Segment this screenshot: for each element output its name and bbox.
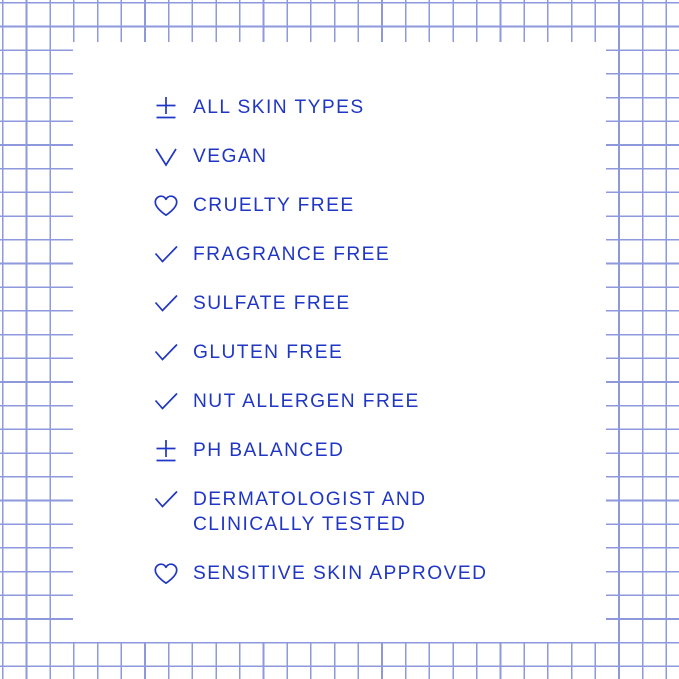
checkmark-icon (152, 287, 186, 321)
white-content-panel: ALL SKIN TYPES VEGAN CRUELTY FREE (73, 42, 606, 642)
list-item-label: NUT ALLERGEN FREE (193, 389, 420, 414)
checkmark-icon (152, 385, 186, 419)
letter-v-icon (152, 140, 186, 174)
checkmark-icon (152, 483, 186, 517)
checkmark-icon (152, 336, 186, 370)
plus-minus-icon (152, 434, 186, 468)
product-claims-card: ALL SKIN TYPES VEGAN CRUELTY FREE (0, 0, 679, 679)
checkmark-icon (152, 238, 186, 272)
list-item-label: SULFATE FREE (193, 291, 351, 316)
list-item-label: CRUELTY FREE (193, 193, 355, 218)
heart-icon (152, 189, 186, 223)
list-item-label: VEGAN (193, 144, 267, 169)
list-item-label: FRAGRANCE FREE (193, 242, 390, 267)
list-item-label: ALL SKIN TYPES (193, 95, 365, 120)
list-item-label: GLUTEN FREE (193, 340, 343, 365)
heart-icon (152, 557, 186, 591)
list-item-label: PH BALANCED (193, 438, 344, 463)
list-item-label: SENSITIVE SKIN APPROVED (193, 561, 487, 586)
list-item-label: DERMATOLOGIST AND CLINICALLY TESTED (193, 487, 426, 537)
plus-minus-icon (152, 91, 186, 125)
